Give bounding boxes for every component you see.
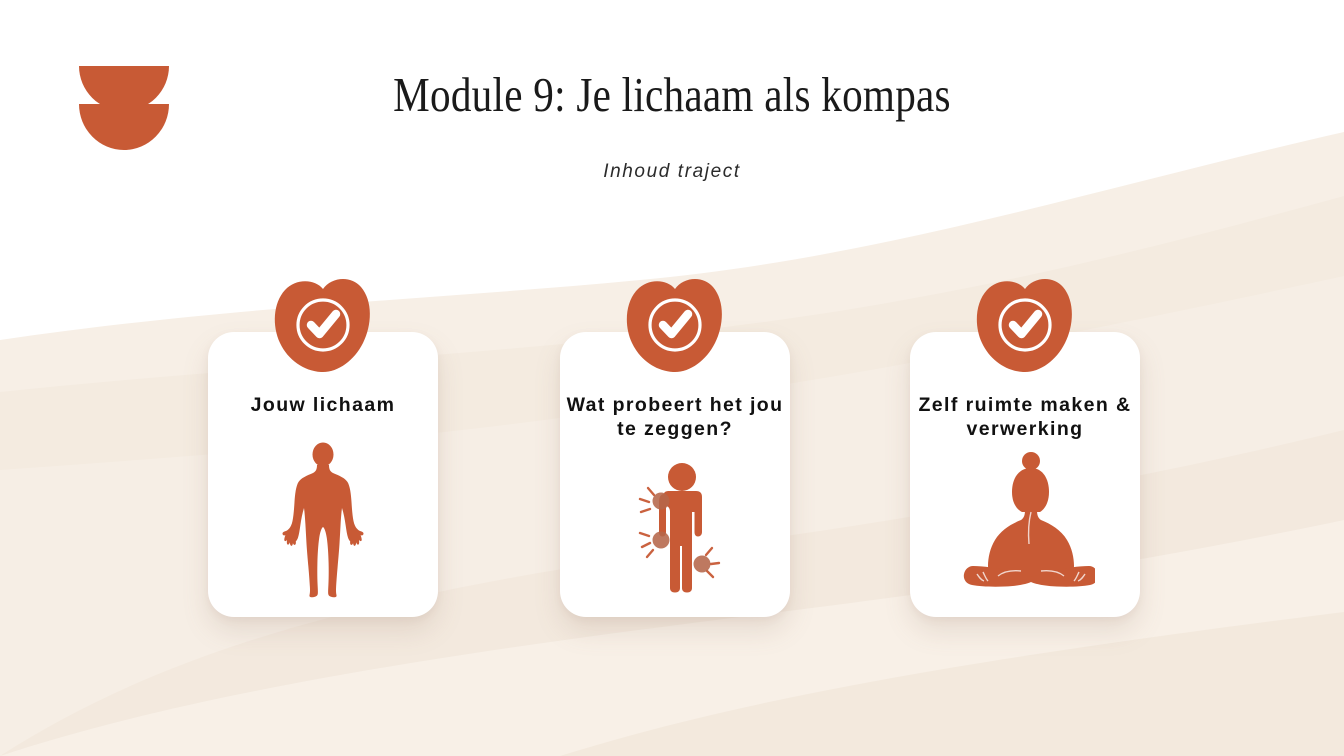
check-circle-icon — [973, 275, 1077, 379]
check-circle-icon — [271, 275, 375, 379]
slide-canvas: Module 9: Je lichaam als kompas Inhoud t… — [0, 0, 1344, 756]
page-subtitle: Inhoud traject — [0, 161, 1344, 183]
check-circle-icon — [623, 275, 727, 379]
card-title: Zelf ruimte maken & verwerking — [916, 394, 1134, 441]
standing-body-silhouette-icon — [277, 442, 369, 602]
card-title: Jouw lichaam — [214, 394, 432, 418]
card-title: Wat probeert het jou te zeggen? — [566, 394, 784, 441]
content-card-jouw-lichaam[interactable]: Jouw lichaam — [208, 332, 438, 617]
page-title: Module 9: Je lichaam als kompas — [108, 66, 1237, 123]
wave-layer-accent — [560, 612, 1344, 756]
body-pain-points-icon — [620, 460, 730, 595]
meditating-lotus-pose-icon — [955, 448, 1095, 596]
content-card-zelf-ruimte-maken-verwerking[interactable]: Zelf ruimte maken & verwerking — [910, 332, 1140, 617]
content-card-wat-probeert-het-jou-te-zeggen[interactable]: Wat probeert het jou te zeggen? — [560, 332, 790, 617]
